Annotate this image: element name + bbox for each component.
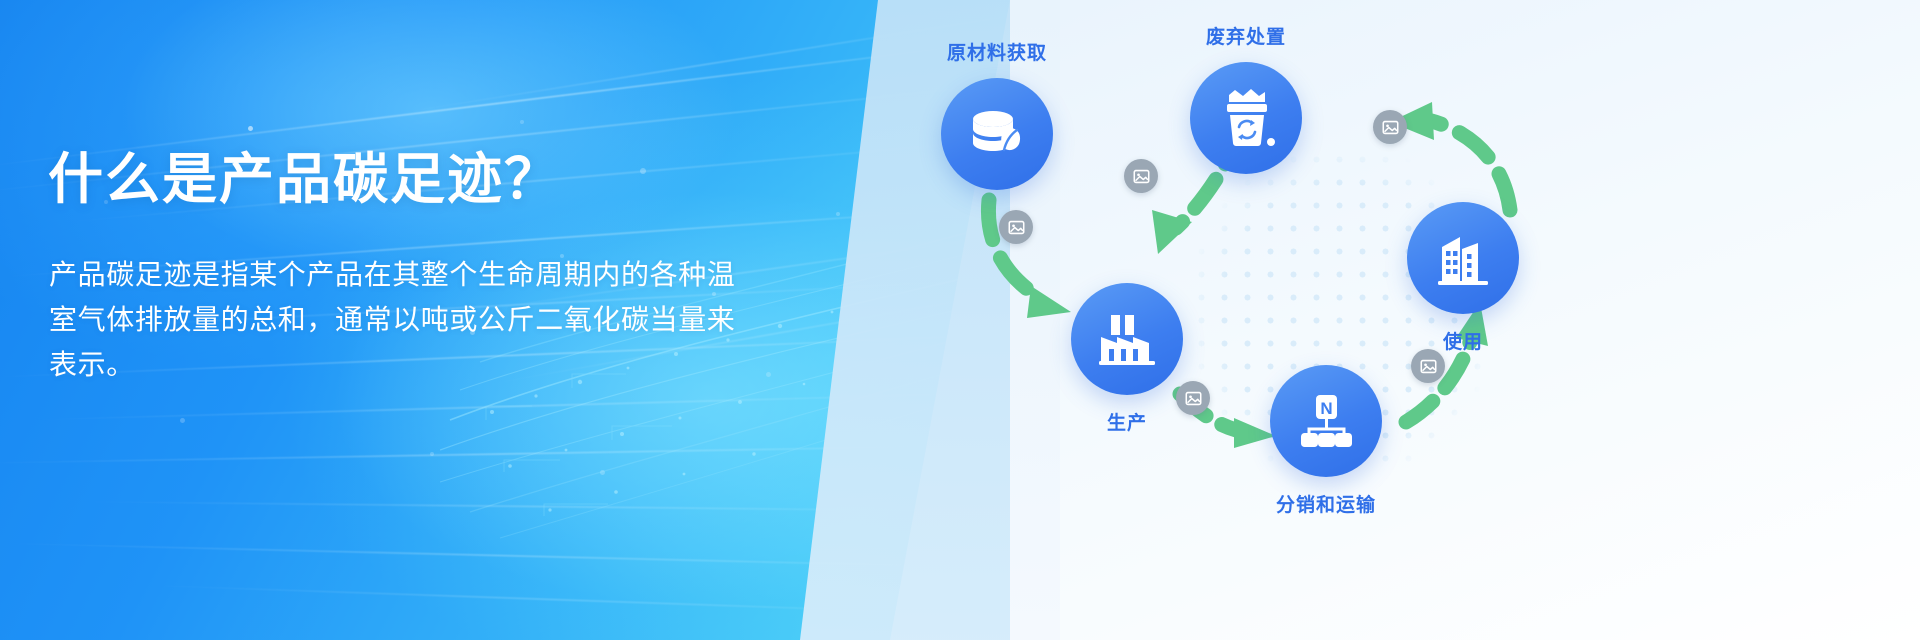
database-leaf-icon [965,102,1029,166]
raw-material-bubble [941,78,1053,190]
svg-text:N: N [1320,399,1332,418]
broken-image-icon [1185,390,1202,407]
badge-broken-image-1[interactable] [999,210,1033,244]
badge-broken-image-3[interactable] [1373,110,1407,144]
lifecycle-node-raw-material-label: 原材料获取 [947,38,1047,65]
badge-broken-image-4[interactable] [1411,349,1445,383]
lifecycle-node-waste-label: 废弃处置 [1206,22,1286,49]
lifecycle-node-use[interactable]: 使用 [1407,202,1519,314]
waste-bubble [1190,62,1302,174]
description-text: 产品碳足迹是指某个产品在其整个生命周期内的各种温室气体排放量的总和，通常以吨或公… [49,252,749,387]
factory-icon [1097,309,1157,369]
broken-image-icon [1133,168,1150,185]
lifecycle-node-distribution-label: 分销和运输 [1276,490,1376,517]
recycle-bin-icon [1215,87,1277,149]
broken-image-icon [1382,119,1399,136]
distribution-bubble: N [1270,365,1382,477]
production-bubble [1071,283,1183,395]
network-node-icon: N [1296,391,1356,451]
buildings-icon [1434,229,1492,287]
lifecycle-node-production[interactable]: 生产 [1071,283,1183,395]
broken-image-icon [1008,219,1025,236]
badge-broken-image-2[interactable] [1124,159,1158,193]
lifecycle-node-raw-material[interactable]: 原材料获取 [941,78,1053,190]
lifecycle-node-production-label: 生产 [1107,408,1147,435]
badge-broken-image-5[interactable] [1176,381,1210,415]
carbon-footprint-banner: 什么是产品碳足迹？ 产品碳足迹是指某个产品在其整个生命周期内的各种温室气体排放量… [0,0,1920,640]
broken-image-icon [1420,358,1437,375]
lifecycle-node-waste[interactable]: 废弃处置 [1190,62,1302,174]
use-bubble [1407,202,1519,314]
lifecycle-node-distribution[interactable]: N 分销和运输 [1270,365,1382,477]
lifecycle-node-use-label: 使用 [1443,327,1483,354]
page-title: 什么是产品碳足迹？ [48,148,561,211]
